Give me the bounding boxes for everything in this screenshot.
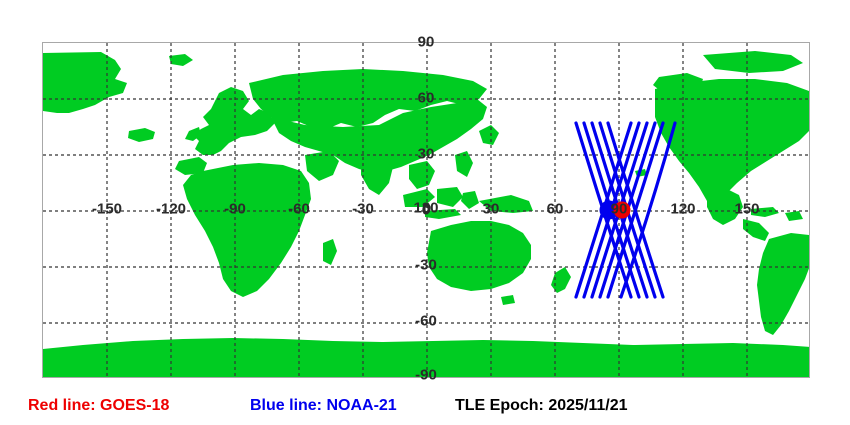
philippines [455, 151, 473, 177]
lon-tick--60: -60 [288, 202, 310, 217]
lat-tick--30: -30 [415, 258, 437, 273]
sulawesi [461, 191, 479, 209]
lon-tick--30: -30 [352, 202, 374, 217]
lat-tick--90: -90 [415, 368, 437, 383]
australia [427, 221, 531, 291]
india [361, 159, 393, 195]
new-zealand [551, 267, 571, 293]
lon-tick-30: 30 [483, 202, 500, 217]
lon-tick-150: 150 [734, 202, 759, 217]
south-america [757, 233, 810, 335]
indochina [409, 161, 435, 189]
iceland [128, 128, 155, 142]
japan [479, 125, 499, 145]
greenland-left [43, 52, 127, 113]
satellite-ground-track-page: -150 -120 -90 -60 -30 0 30 60 90 120 150… [0, 0, 850, 425]
lon-tick--150: -150 [92, 202, 122, 217]
africa [183, 163, 311, 297]
lon-tick-120: 120 [670, 202, 695, 217]
lon-tick--120: -120 [156, 202, 186, 217]
lat-tick-90: 90 [418, 35, 435, 50]
lat-tick--60: -60 [415, 314, 437, 329]
arctic-isles-west [169, 54, 193, 66]
lat-tick-0: 0 [422, 203, 430, 218]
legend-blue-line: Blue line: NOAA-21 [250, 392, 397, 420]
north-america [655, 79, 810, 207]
lon-tick--90: -90 [224, 202, 246, 217]
tasmania [501, 295, 515, 305]
caribbean-isles [785, 211, 803, 221]
lon-tick-90: 90 [611, 202, 628, 217]
central-america [743, 219, 769, 241]
legend-red-line: Red line: GOES-18 [28, 392, 169, 420]
hawaii [635, 169, 647, 177]
lat-tick-30: 30 [418, 147, 435, 162]
lat-tick-60: 60 [418, 91, 435, 106]
legend: Red line: GOES-18 Blue line: NOAA-21 TLE… [0, 392, 850, 420]
indonesia-borneo [437, 187, 463, 207]
madagascar [323, 239, 337, 265]
canada-arctic [703, 51, 803, 73]
lon-tick-60: 60 [547, 202, 564, 217]
legend-tle-epoch: TLE Epoch: 2025/11/21 [455, 392, 628, 420]
